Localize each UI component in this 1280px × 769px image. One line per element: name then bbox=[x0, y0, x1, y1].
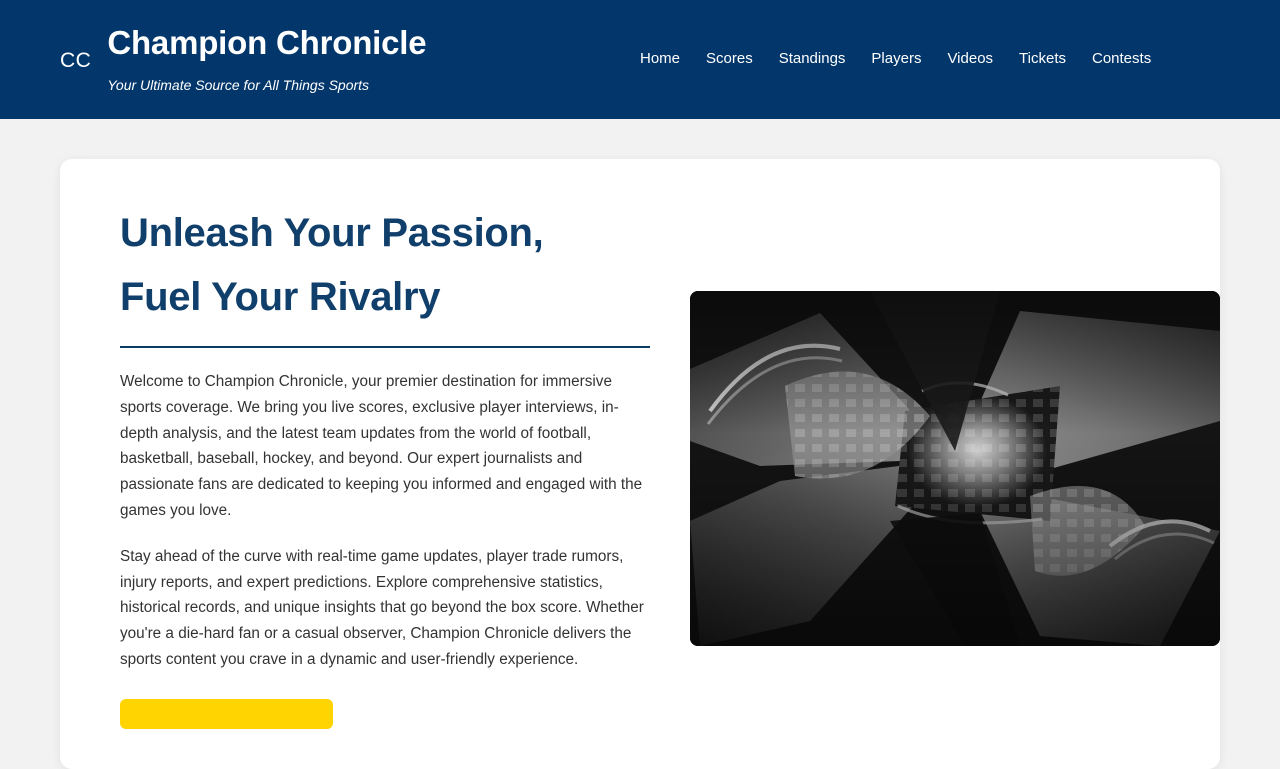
nav-item-home[interactable]: Home bbox=[640, 48, 680, 69]
hero-text-column: Unleash Your Passion, Fuel Your Rivalry … bbox=[90, 195, 650, 729]
site-tagline: Your Ultimate Source for All Things Spor… bbox=[107, 77, 426, 94]
hero-paragraph-1: Welcome to Champion Chronicle, your prem… bbox=[120, 369, 645, 524]
page-title-line-2: Fuel Your Rivalry bbox=[120, 275, 440, 319]
nav-item-standings[interactable]: Standings bbox=[779, 48, 846, 69]
nav-item-contests[interactable]: Contests bbox=[1092, 48, 1151, 69]
hero-card: Unleash Your Passion, Fuel Your Rivalry … bbox=[60, 159, 1220, 769]
hero-paragraph-2: Stay ahead of the curve with real-time g… bbox=[120, 544, 645, 673]
hero-cta-button[interactable] bbox=[120, 699, 333, 729]
brand-text: Champion Chronicle Your Ultimate Source … bbox=[107, 24, 426, 94]
nav-item-videos[interactable]: Videos bbox=[947, 48, 993, 69]
brand-block[interactable]: CC Champion Chronicle Your Ultimate Sour… bbox=[0, 0, 426, 94]
hero-image-column bbox=[650, 195, 1220, 646]
logo-mark-icon: CC bbox=[60, 24, 107, 71]
page-title-line-1: Unleash Your Passion, bbox=[120, 211, 543, 255]
page-title: Unleash Your Passion, Fuel Your Rivalry bbox=[120, 201, 650, 329]
nav-item-tickets[interactable]: Tickets bbox=[1019, 48, 1066, 69]
site-title: Champion Chronicle bbox=[107, 24, 426, 63]
nav-item-players[interactable]: Players bbox=[871, 48, 921, 69]
main-navigation: Home Scores Standings Players Videos Tic… bbox=[640, 48, 1151, 69]
nav-item-scores[interactable]: Scores bbox=[706, 48, 753, 69]
site-header: CC Champion Chronicle Your Ultimate Sour… bbox=[0, 0, 1280, 119]
title-divider bbox=[120, 346, 650, 348]
hero-image bbox=[690, 291, 1220, 646]
